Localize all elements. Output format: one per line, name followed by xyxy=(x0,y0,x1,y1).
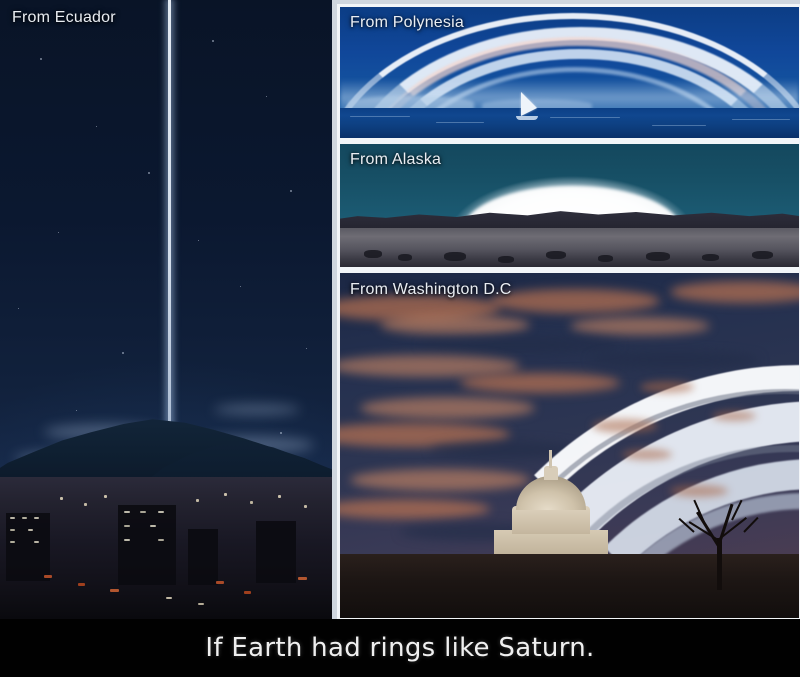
panel-label-polynesia: From Polynesia xyxy=(350,14,464,32)
city-light xyxy=(84,503,87,506)
city-light xyxy=(10,541,15,543)
city-light xyxy=(196,499,199,502)
ring-comparison-poster: From Ecuador From Polynesia xyxy=(0,0,800,677)
cloud xyxy=(360,397,535,419)
rock xyxy=(752,251,773,259)
cloud-over-ring xyxy=(712,411,756,421)
building xyxy=(256,521,296,583)
ecuador-ring-line xyxy=(168,0,171,482)
caption-text: If Earth had rings like Saturn. xyxy=(205,633,594,663)
star xyxy=(76,410,77,411)
star xyxy=(18,308,19,309)
bare-tree xyxy=(673,494,765,590)
cloud xyxy=(460,373,620,393)
city-light xyxy=(198,603,204,605)
city-light xyxy=(124,539,130,541)
rock xyxy=(598,255,613,262)
city-light xyxy=(124,525,130,527)
panel-alaska[interactable]: From Alaska xyxy=(337,141,800,270)
wave xyxy=(436,122,484,123)
building xyxy=(118,505,176,585)
city-light xyxy=(104,495,107,498)
cloud xyxy=(490,289,660,313)
star xyxy=(198,240,199,241)
city-light xyxy=(10,529,15,531)
wave xyxy=(350,116,410,117)
city-light xyxy=(250,501,253,504)
panel-washington-dc[interactable]: From Washington D.C xyxy=(337,270,800,621)
star xyxy=(306,348,307,349)
rock xyxy=(646,252,670,261)
sailboat-hull xyxy=(516,116,538,120)
city-light xyxy=(124,511,130,513)
city-light xyxy=(28,529,33,531)
panel-label-washington-dc: From Washington D.C xyxy=(350,281,511,299)
caption-bar: If Earth had rings like Saturn. xyxy=(0,619,800,677)
polynesia-ocean xyxy=(340,108,799,138)
wave xyxy=(652,125,706,126)
sailboat-sail xyxy=(521,92,537,116)
star xyxy=(280,432,282,434)
city-light xyxy=(110,589,119,592)
wave xyxy=(550,117,620,118)
star xyxy=(212,40,214,42)
city-light xyxy=(224,493,227,496)
capitol-dome xyxy=(516,476,586,510)
cloud-over-ring xyxy=(622,449,672,460)
star xyxy=(58,232,59,233)
city-light xyxy=(278,495,281,498)
rock xyxy=(398,254,412,261)
capitol-drum xyxy=(512,506,590,534)
city-light xyxy=(298,577,307,580)
city-light xyxy=(60,497,63,500)
star xyxy=(148,172,150,174)
city-light xyxy=(140,511,146,513)
cloud xyxy=(570,317,710,335)
star xyxy=(40,58,42,60)
city-light xyxy=(304,505,307,508)
star xyxy=(266,96,267,97)
cloud xyxy=(590,351,760,369)
panel-ecuador[interactable]: From Ecuador xyxy=(0,0,332,619)
city-light xyxy=(150,525,156,527)
rock xyxy=(364,250,382,258)
cloud xyxy=(337,355,520,377)
rock xyxy=(546,251,566,259)
city-light xyxy=(22,517,27,519)
building xyxy=(188,529,218,585)
tree-branch xyxy=(731,500,742,521)
building xyxy=(6,513,50,581)
city-light xyxy=(158,539,164,541)
city-light xyxy=(244,591,251,594)
panel-label-alaska: From Alaska xyxy=(350,151,441,169)
photo-grid: From Ecuador From Polynesia xyxy=(0,0,800,619)
city-light xyxy=(34,541,39,543)
star xyxy=(290,190,292,192)
city-light xyxy=(78,583,85,586)
ecuador-city-lights xyxy=(0,477,332,619)
city-light xyxy=(34,517,39,519)
cloud xyxy=(380,315,530,335)
city-light xyxy=(216,581,224,584)
star xyxy=(96,126,97,127)
cloud xyxy=(420,337,620,353)
capitol-lantern xyxy=(544,466,558,480)
cloud xyxy=(214,404,300,415)
capitol-spire xyxy=(549,450,552,468)
rock xyxy=(498,256,514,263)
cloud-over-ring xyxy=(592,419,658,433)
city-light xyxy=(10,517,15,519)
panel-polynesia[interactable]: From Polynesia xyxy=(337,4,800,141)
star xyxy=(240,286,241,287)
rock xyxy=(702,254,719,261)
cloud-over-ring xyxy=(640,381,694,393)
wave xyxy=(732,119,790,120)
rock xyxy=(444,252,466,261)
city-light xyxy=(158,511,164,513)
panel-label-ecuador: From Ecuador xyxy=(12,9,116,27)
tundra-plain xyxy=(340,228,799,267)
city-light xyxy=(166,597,172,599)
star xyxy=(122,352,124,354)
city-light xyxy=(44,575,52,578)
